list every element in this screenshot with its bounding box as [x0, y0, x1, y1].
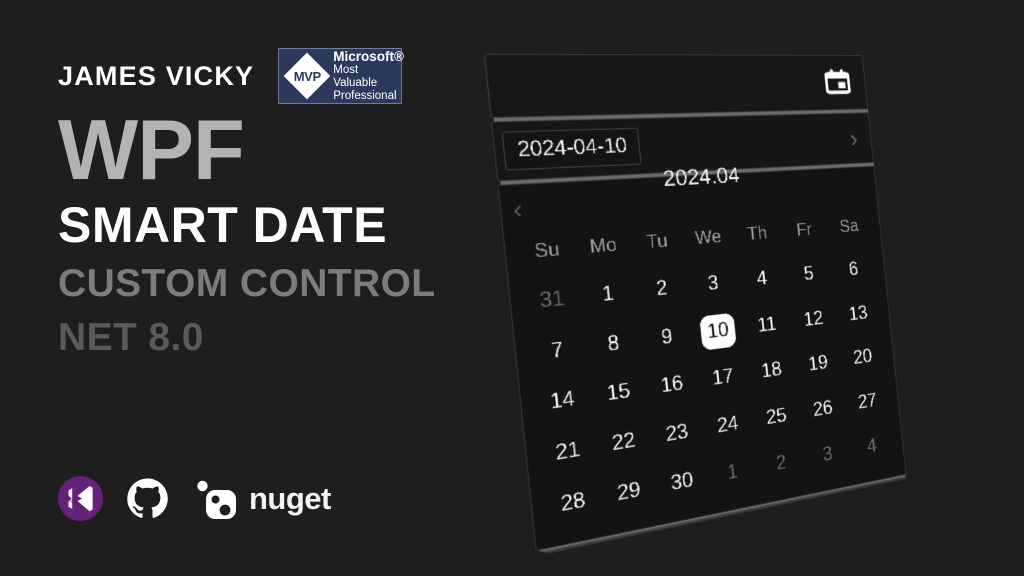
day-cell[interactable]: 25 — [760, 399, 794, 435]
headline-line-wpf: WPF — [58, 110, 436, 192]
month-panel: ‹ 2024.04 SuMoTuWeThFrSa3112345678910111… — [497, 166, 906, 552]
day-header-sa: Sa — [825, 202, 874, 250]
visual-studio-glyph — [58, 476, 103, 521]
visual-studio-icon[interactable] — [58, 476, 103, 521]
day-cell[interactable]: 4 — [745, 262, 779, 296]
mvp-badge-line2: Most Valuable — [333, 64, 404, 90]
github-glyph — [125, 476, 170, 521]
day-cell[interactable]: 26 — [807, 392, 839, 427]
day-cell[interactable]: 23 — [659, 415, 696, 453]
day-cell[interactable]: 27 — [852, 385, 883, 419]
date-input[interactable]: 2024-04-10 — [502, 128, 642, 171]
calendar-glyph — [821, 66, 854, 100]
day-cell[interactable]: 16 — [654, 367, 691, 404]
github-icon[interactable] — [125, 476, 170, 521]
day-cell[interactable]: 1 — [589, 276, 628, 313]
day-cell[interactable]: 11 — [750, 308, 784, 343]
day-cell[interactable]: 20 — [847, 341, 878, 375]
day-header-su: Su — [515, 223, 578, 278]
text-column: JAMES VICKY MVP Microsoft® Most Valuable… — [0, 0, 520, 576]
day-cell[interactable]: 31 — [532, 282, 572, 320]
headline-line-net-version: NET 8.0 — [58, 313, 436, 364]
mvp-badge-line3: Professional — [333, 90, 404, 103]
day-header-fr: Fr — [779, 205, 830, 254]
day-cell[interactable]: 18 — [755, 354, 789, 389]
nuget-wordmark: nuget — [249, 481, 331, 517]
calendar-icon[interactable] — [821, 66, 854, 100]
day-cell[interactable]: 9 — [649, 319, 686, 355]
day-cell[interactable]: 28 — [553, 482, 593, 523]
day-cell[interactable]: 8 — [594, 325, 633, 362]
day-header-tu: Tu — [628, 215, 686, 267]
day-cell[interactable]: 4 — [856, 429, 887, 464]
author-row: JAMES VICKY MVP Microsoft® Most Valuable… — [58, 48, 402, 104]
day-header-we: We — [680, 212, 735, 263]
day-cell[interactable]: 3 — [695, 267, 730, 302]
mvp-diamond-icon: MVP — [284, 53, 330, 99]
day-cell[interactable]: 24 — [710, 407, 745, 444]
day-cell[interactable]: 19 — [802, 347, 834, 381]
mvp-badge-text: Microsoft® Most Valuable Professional — [333, 49, 404, 103]
day-cell[interactable]: 15 — [599, 374, 637, 412]
next-month-chevron-icon[interactable]: › — [849, 125, 859, 151]
headline-line-smart-date: SMART DATE — [58, 196, 436, 255]
day-cell[interactable]: 5 — [793, 258, 825, 291]
control-toolbar — [484, 54, 868, 118]
microsoft-mvp-badge: MVP Microsoft® Most Valuable Professiona… — [278, 48, 402, 104]
control-face: 2024-04-10 › ‹ 2024.04 SuMoTuWeThFrSa311… — [484, 54, 907, 552]
day-cell[interactable]: 2 — [764, 445, 798, 482]
smart-date-control: 2024-04-10 › ‹ 2024.04 SuMoTuWeThFrSa311… — [484, 54, 907, 552]
nuget-icon — [192, 476, 242, 521]
author-name: JAMES VICKY — [58, 61, 254, 92]
day-cell-selected[interactable]: 10 — [700, 314, 735, 350]
day-cell[interactable]: 30 — [664, 463, 701, 502]
headline: WPF SMART DATE CUSTOM CONTROL NET 8.0 — [58, 110, 436, 364]
day-cell[interactable]: 12 — [797, 303, 829, 337]
nuget-logo[interactable]: nuget — [192, 476, 331, 521]
day-cell[interactable]: 3 — [811, 437, 843, 473]
smart-date-control-scene: 2024-04-10 › ‹ 2024.04 SuMoTuWeThFrSa311… — [487, 0, 957, 576]
day-cell[interactable]: 13 — [843, 298, 874, 331]
nuget-glyph — [192, 476, 242, 521]
day-cell[interactable]: 29 — [610, 472, 648, 512]
day-cell[interactable]: 17 — [705, 360, 740, 396]
day-cell[interactable]: 14 — [542, 382, 582, 421]
poster-canvas: JAMES VICKY MVP Microsoft® Most Valuable… — [0, 0, 1024, 576]
day-cell[interactable]: 1 — [715, 454, 750, 492]
logo-row: nuget — [58, 476, 331, 521]
day-grid: SuMoTuWeThFrSa31123456789101112131415161… — [515, 202, 896, 533]
day-cell[interactable]: 2 — [643, 272, 680, 308]
day-cell[interactable]: 6 — [838, 254, 869, 286]
day-cell[interactable]: 22 — [604, 423, 642, 462]
mvp-diamond-label: MVP — [284, 53, 330, 99]
mvp-badge-line1: Microsoft® — [333, 49, 404, 64]
day-cell[interactable]: 7 — [537, 332, 577, 370]
day-header-mo: Mo — [573, 219, 633, 273]
day-header-th: Th — [731, 208, 784, 258]
headline-line-custom-control: CUSTOM CONTROL — [58, 259, 436, 310]
day-cell[interactable]: 21 — [548, 432, 588, 472]
